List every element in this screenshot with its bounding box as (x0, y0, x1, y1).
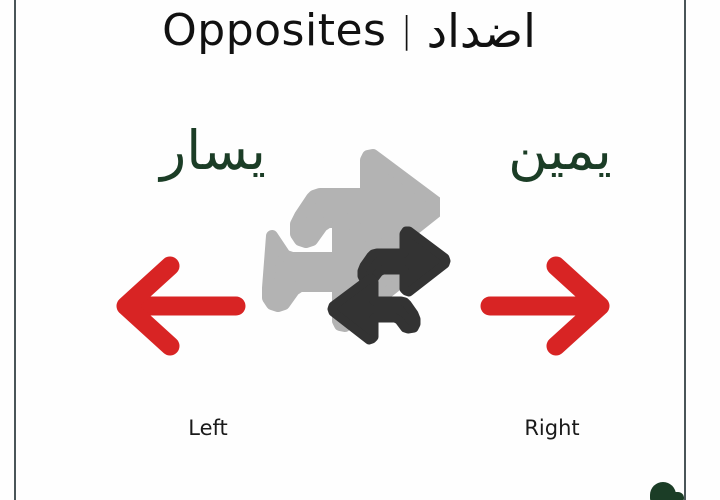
partial-glyph-bottom-tail (668, 492, 684, 500)
arrow-left-icon (108, 252, 248, 360)
word-arabic-right: يمين (470, 124, 650, 178)
word-english-right: Right (452, 418, 652, 439)
worksheet-page: Opposites | اضداد يسار يمين (0, 0, 720, 500)
page-border-left (14, 0, 16, 500)
page-border-right (684, 0, 686, 500)
page-title-arabic: اضداد (427, 8, 536, 54)
page-title-english: Opposites (162, 9, 386, 53)
swap-arrows-small-icon-lower (308, 268, 428, 378)
page-title-separator: | (400, 13, 412, 49)
word-english-left: Left (108, 418, 308, 439)
page-title: Opposites | اضداد (14, 0, 684, 62)
arrow-right-icon (478, 252, 618, 360)
swap-arrows-graphic (240, 120, 475, 320)
